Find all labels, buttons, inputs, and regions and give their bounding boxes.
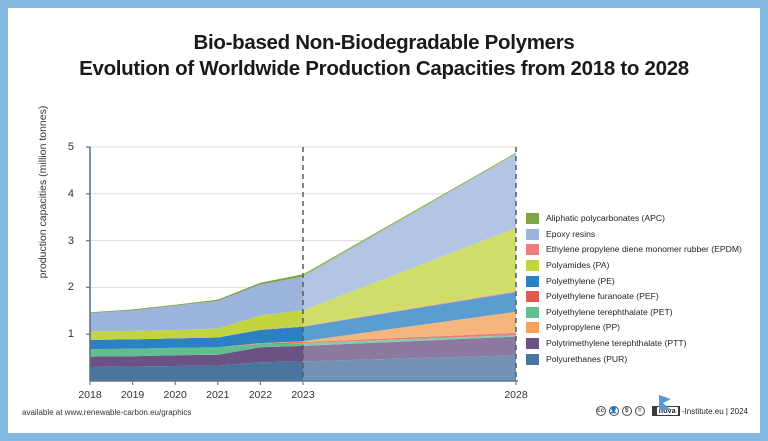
legend-item[interactable]: Polytrimethylene terephthalate (PTT) [526, 336, 758, 352]
footer: available at www.renewable-carbon.eu/gra… [8, 399, 760, 433]
legend-swatch [526, 322, 539, 333]
legend-item-label: Polyethylene terephthalate (PET) [546, 307, 673, 318]
chart-legend: Aliphatic polycarbonates (APC)Epoxy resi… [526, 211, 758, 367]
footer-brand: cc 👤 $ = nova -Institute.eu | 2024 [596, 406, 748, 416]
legend-item[interactable]: Polyurethanes (PUR) [526, 351, 758, 367]
legend-item[interactable]: Polyethylene furanoate (PEF) [526, 289, 758, 305]
legend-item-label: Polytrimethylene terephthalate (PTT) [546, 338, 686, 349]
legend-item-label: Polyurethanes (PUR) [546, 354, 627, 365]
legend-swatch [526, 229, 539, 240]
legend-item-label: Epoxy resins [546, 229, 595, 240]
cc-icon: cc [596, 406, 606, 416]
legend-swatch [526, 244, 539, 255]
legend-swatch [526, 354, 539, 365]
legend-swatch [526, 213, 539, 224]
legend-item-label: Polyamides (PA) [546, 260, 609, 271]
legend-item[interactable]: Ethylene propylene diene monomer rubber … [526, 242, 758, 258]
legend-item[interactable]: Epoxy resins [526, 227, 758, 243]
legend-swatch [526, 338, 539, 349]
nova-institute-logo: nova -Institute.eu | 2024 [652, 406, 748, 416]
legend-item-label: Polyethylene (PE) [546, 276, 615, 287]
legend-item-label: Aliphatic polycarbonates (APC) [546, 213, 665, 224]
legend-swatch [526, 276, 539, 287]
by-icon: 👤 [609, 406, 619, 416]
legend-swatch [526, 307, 539, 318]
nc-icon: $ [622, 406, 632, 416]
legend-item[interactable]: Polyethylene terephthalate (PET) [526, 305, 758, 321]
nova-brand-text: -Institute.eu | 2024 [682, 407, 748, 416]
nova-flag-icon [658, 394, 672, 414]
legend-item-label: Polyethylene furanoate (PEF) [546, 291, 659, 302]
legend-item[interactable]: Aliphatic polycarbonates (APC) [526, 211, 758, 227]
legend-item-label: Ethylene propylene diene monomer rubber … [546, 244, 742, 255]
legend-item[interactable]: Polypropylene (PP) [526, 320, 758, 336]
legend-item[interactable]: Polyamides (PA) [526, 258, 758, 274]
legend-item[interactable]: Polyethylene (PE) [526, 273, 758, 289]
legend-swatch [526, 260, 539, 271]
nd-icon: = [635, 406, 645, 416]
chart-card: Bio-based Non-Biodegradable Polymers Evo… [8, 8, 760, 433]
footer-availability-text: available at www.renewable-carbon.eu/gra… [22, 408, 191, 417]
legend-item-label: Polypropylene (PP) [546, 322, 620, 333]
legend-swatch [526, 291, 539, 302]
